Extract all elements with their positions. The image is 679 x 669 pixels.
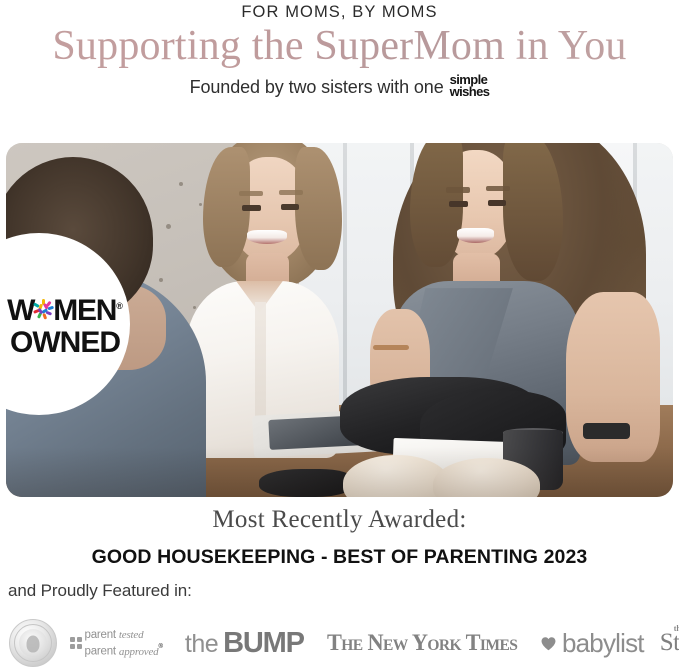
scene-bottom-shadow <box>6 447 673 497</box>
strategist-wordmark: Strategist <box>660 629 679 657</box>
colorful-starburst-icon <box>34 299 53 323</box>
featured-in-label: and Proudly Featured in: <box>8 581 192 601</box>
woman-right-brow <box>446 187 470 192</box>
press-logo-bar: parenttested parentapproved® the BUMP Th… <box>0 617 679 669</box>
ptpa-parent-2: parent <box>85 646 116 658</box>
eyebrow-text: FOR MOMS, BY MOMS <box>0 2 679 22</box>
moms-choice-awards-seal-icon <box>9 619 57 667</box>
woman-right-eye <box>449 201 468 206</box>
strategist-the: the <box>674 624 679 633</box>
ptpa-line2: parentapproved® <box>85 641 163 657</box>
ptpa-wordmark: parenttested parentapproved® <box>85 628 163 657</box>
women-owned-line2: OWNED <box>7 327 123 358</box>
ptpa-grid-icon <box>70 637 82 649</box>
award-intro: Most Recently Awarded: <box>0 505 679 535</box>
woman-center-eye <box>281 204 300 210</box>
ptpa-grid-cell <box>70 637 75 642</box>
simple-wishes-logo-line2: wishes <box>450 86 490 97</box>
the-bump-bump: BUMP <box>223 627 304 660</box>
wall-speck <box>193 306 196 309</box>
woman-right-hair-right <box>503 143 563 281</box>
ptpa-parent-1: parent <box>85 629 116 641</box>
seal-figure-icon <box>27 635 40 652</box>
women-owned-men: MEN <box>53 294 116 327</box>
the-strategist-logo: the Strategist <box>660 629 679 657</box>
women-owned-line1: WMEN® <box>7 291 123 326</box>
ptpa-trademark-icon: ® <box>158 644 162 650</box>
founders-subline-text: Founded by two sisters with one <box>190 76 444 98</box>
woman-center-brow <box>239 191 263 197</box>
the-bump-the: the <box>185 630 218 659</box>
women-owned-w: W <box>7 294 34 327</box>
page-title: Supporting the SuperMom in You <box>0 21 679 71</box>
woman-center-brow <box>279 190 303 196</box>
ptpa-line1: parenttested <box>85 628 163 641</box>
registered-trademark-icon: ® <box>116 301 123 311</box>
the-bump-logo: the BUMP <box>185 627 304 660</box>
new-york-times-logo: The New York Times <box>327 630 517 656</box>
ptpa-tested: tested <box>119 629 143 641</box>
scene-window-frame-1 <box>343 143 347 419</box>
woman-center-smile <box>247 230 287 244</box>
woman-right-watch <box>583 423 630 439</box>
promo-header: FOR MOMS, BY MOMS Supporting the SuperMo… <box>0 0 679 98</box>
ptpa-approved: approved <box>119 646 159 658</box>
women-owned-badge-inner: WMEN® OWNED <box>7 291 123 358</box>
babylist-wordmark: babylist <box>562 628 644 659</box>
founders-subline: Founded by two sisters with one simple w… <box>0 74 679 98</box>
woman-right-smile <box>457 228 494 243</box>
ptpa-grid-cell <box>77 637 82 642</box>
simple-wishes-logo: simple wishes <box>450 74 490 97</box>
ptpa-grid-cell <box>77 644 82 649</box>
babylist-logo: babylist <box>540 628 644 659</box>
parent-tested-parent-approved-logo: parenttested parentapproved® <box>70 628 163 657</box>
ptpa-grid-cell <box>70 644 75 649</box>
woman-right-bracelet <box>373 345 409 351</box>
award-section: Most Recently Awarded: GOOD HOUSEKEEPING… <box>0 505 679 569</box>
woman-right-brow <box>486 186 510 191</box>
woman-center-eye <box>242 205 261 211</box>
award-title: GOOD HOUSEKEEPING - BEST OF PARENTING 20… <box>0 545 679 569</box>
heart-icon <box>540 636 557 651</box>
woman-right-eye <box>488 200 507 205</box>
